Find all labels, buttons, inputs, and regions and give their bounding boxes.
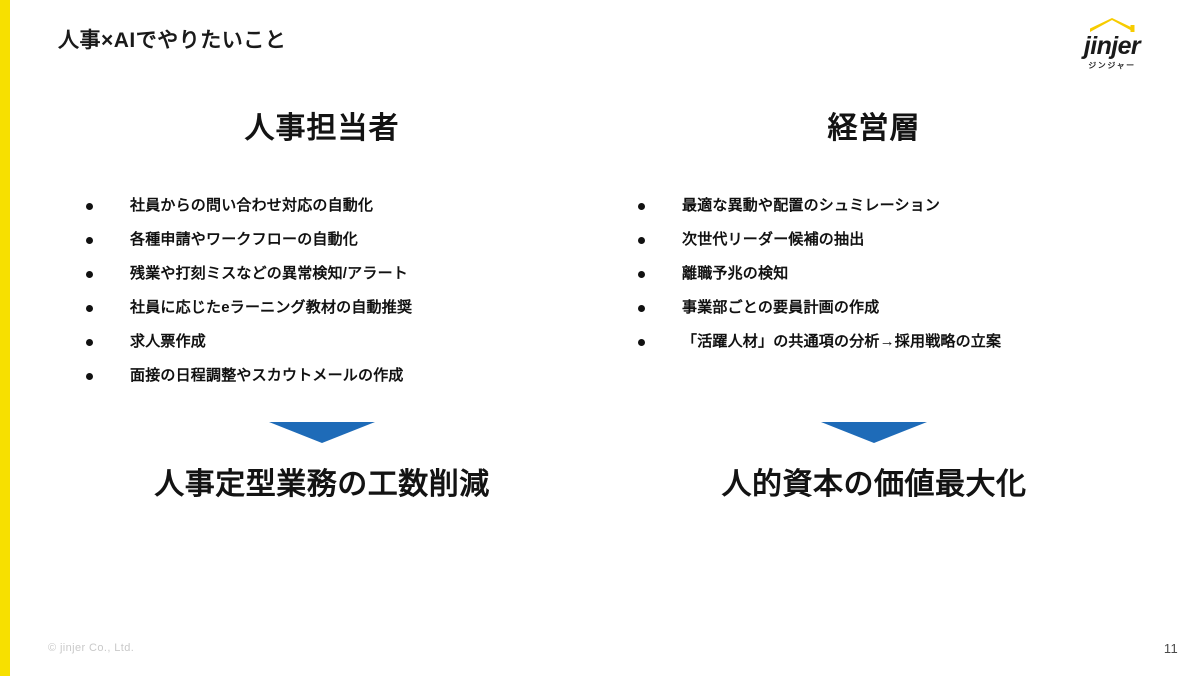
- list-item-label: 離職予兆の検知: [682, 265, 788, 282]
- list-item: 社員からの問い合わせ対応の自動化: [52, 189, 592, 223]
- bullet-dot-icon: [638, 339, 645, 346]
- list-item: 面接の日程調整やスカウトメールの作成: [52, 359, 592, 393]
- bullet-list-executives: 最適な異動や配置のシュミレーション 次世代リーダー候補の抽出 離職予兆の検知 事…: [604, 189, 1144, 359]
- bullet-dot-icon: [86, 305, 93, 312]
- page-number: 11: [1164, 641, 1178, 656]
- bullet-dot-icon: [86, 373, 93, 380]
- bullet-dot-icon: [638, 237, 645, 244]
- jinjer-logo: jinjer ジンジャー: [1060, 18, 1164, 70]
- left-accent-bar: [0, 0, 10, 676]
- conclusion-executives: 人的資本の価値最大化: [604, 468, 1144, 503]
- bullet-dot-icon: [638, 203, 645, 210]
- list-item: 残業や打刻ミスなどの異常検知/アラート: [52, 257, 592, 291]
- list-item-label: 社員からの問い合わせ対応の自動化: [130, 197, 373, 214]
- list-item-label: 「活躍人材」の共通項の分析→採用戦略の立案: [682, 333, 1001, 350]
- bullet-dot-icon: [86, 271, 93, 278]
- list-item-label: 最適な異動や配置のシュミレーション: [682, 197, 940, 214]
- list-item: 最適な異動や配置のシュミレーション: [604, 189, 1144, 223]
- bullet-dot-icon: [86, 203, 93, 210]
- logo-wordmark: jinjer: [1060, 34, 1164, 59]
- list-item-label: 社員に応じたeラーニング教材の自動推奨: [130, 299, 412, 316]
- column-executives: 経営層 最適な異動や配置のシュミレーション 次世代リーダー候補の抽出 離職予兆の…: [604, 112, 1144, 359]
- bullet-dot-icon: [86, 339, 93, 346]
- list-item: 社員に応じたeラーニング教材の自動推奨: [52, 291, 592, 325]
- list-item-label: 事業部ごとの要員計画の作成: [682, 299, 879, 316]
- list-item: 次世代リーダー候補の抽出: [604, 223, 1144, 257]
- bullet-dot-icon: [638, 305, 645, 312]
- list-item: 求人票作成: [52, 325, 592, 359]
- list-item: 各種申請やワークフローの自動化: [52, 223, 592, 257]
- list-item-label: 面接の日程調整やスカウトメールの作成: [130, 367, 404, 384]
- column-heading-executives: 経営層: [604, 112, 1144, 145]
- bullet-dot-icon: [638, 271, 645, 278]
- conclusion-hr-staff: 人事定型業務の工数削減: [52, 468, 592, 503]
- down-triangle-icon: [821, 422, 927, 443]
- bullet-dot-icon: [86, 237, 93, 244]
- arrow-down-executives: [604, 422, 1144, 446]
- slide-root: 人事×AIでやりたいこと jinjer ジンジャー 人事担当者 社員からの問い合…: [0, 0, 1200, 676]
- list-item-label: 各種申請やワークフローの自動化: [130, 231, 358, 248]
- column-heading-hr-staff: 人事担当者: [52, 112, 592, 145]
- arrow-down-hr-staff: [52, 422, 592, 446]
- column-hr-staff: 人事担当者 社員からの問い合わせ対応の自動化 各種申請やワークフローの自動化 残…: [52, 112, 592, 393]
- list-item-label: 次世代リーダー候補の抽出: [682, 231, 864, 248]
- list-item-label: 求人票作成: [130, 333, 206, 350]
- list-item-label: 残業や打刻ミスなどの異常検知/アラート: [130, 265, 408, 282]
- down-triangle-icon: [269, 422, 375, 443]
- list-item: 「活躍人材」の共通項の分析→採用戦略の立案: [604, 325, 1144, 359]
- list-item: 離職予兆の検知: [604, 257, 1144, 291]
- footer-copyright: © jinjer Co., Ltd.: [48, 642, 134, 654]
- house-roof-icon: [1060, 18, 1164, 33]
- bullet-list-hr-staff: 社員からの問い合わせ対応の自動化 各種申請やワークフローの自動化 残業や打刻ミス…: [52, 189, 592, 393]
- list-item: 事業部ごとの要員計画の作成: [604, 291, 1144, 325]
- page-title: 人事×AIでやりたいこと: [58, 24, 286, 54]
- logo-kana-subtitle: ジンジャー: [1060, 62, 1164, 70]
